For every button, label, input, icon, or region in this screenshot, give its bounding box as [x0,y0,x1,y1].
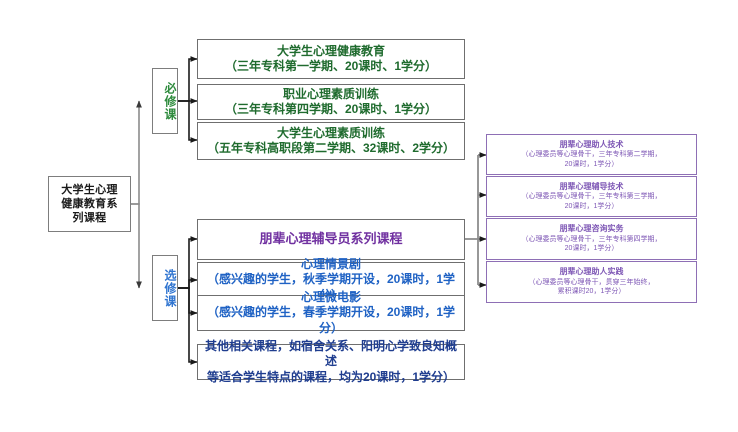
peer-series-course-4[interactable]: 朋辈心理助人实践 （心理委员等心理骨干，贯穿三年始终， 累积课时20，1学分） [486,261,697,303]
elective-course-2-name: 心理情景剧 [201,257,461,272]
root-line-3: 列课程 [52,211,127,225]
root-node[interactable]: 大学生心理 健康教育系 列课程 [48,176,131,232]
peer-series-course-3-detail-2: 20课时，1学分） [490,244,693,253]
root-line-2: 健康教育系 [52,197,127,211]
category-elective[interactable]: 选修课 [152,255,178,321]
category-required[interactable]: 必修课 [152,68,178,134]
required-course-1-detail: （三年专科第一学期、20课时、1学分） [201,59,461,74]
required-course-1[interactable]: 大学生心理健康教育 （三年专科第一学期、20课时、1学分） [197,39,465,79]
peer-series-course-4-name: 朋辈心理助人实践 [490,267,693,277]
elective-course-1-name: 朋辈心理辅导员系列课程 [198,231,464,248]
required-course-2-name: 职业心理素质训练 [201,87,461,102]
required-course-3[interactable]: 大学生心理素质训练 （五年专科高职段第二学期、32课时、2学分） [197,122,465,160]
elective-course-3-detail: （感兴趣的学生，春季学期开设，20课时，1学分） [201,305,461,336]
elective-course-1[interactable]: 朋辈心理辅导员系列课程 [197,219,465,260]
peer-series-course-3-detail-1: （心理委员等心理骨干，三年专科第四学期， [490,235,693,244]
peer-series-course-1[interactable]: 朋辈心理助人技术 （心理委员等心理骨干，三年专科第二学期， 20课时，1学分） [486,134,697,175]
peer-series-course-4-detail-2: 累积课时20，1学分） [490,287,693,296]
other-courses-line-1: 其他相关课程，如宿舍关系、阳明心学致良知概述 [201,339,461,370]
category-required-label: 必修课 [153,82,177,121]
peer-series-course-4-detail-1: （心理委员等心理骨干，贯穿三年始终， [490,278,693,287]
peer-series-course-2-detail-2: 20课时，1学分） [490,202,693,211]
required-course-2[interactable]: 职业心理素质训练 （三年专科第四学期、20课时、1学分） [197,84,465,120]
elective-course-3-name: 心理微电影 [201,290,461,305]
peer-series-course-3-name: 朋辈心理咨询实务 [490,224,693,234]
peer-series-course-3[interactable]: 朋辈心理咨询实务 （心理委员等心理骨干，三年专科第四学期， 20课时，1学分） [486,218,697,260]
peer-series-course-2[interactable]: 朋辈心理辅导技术 （心理委员等心理骨干，三年专科第三学期， 20课时，1学分） [486,176,697,217]
elective-course-3[interactable]: 心理微电影 （感兴趣的学生，春季学期开设，20课时，1学分） [197,295,465,331]
peer-series-course-1-detail-2: 20课时，1学分） [490,160,693,169]
peer-series-course-1-name: 朋辈心理助人技术 [490,140,693,150]
category-elective-label: 选修课 [153,269,177,308]
other-courses-box[interactable]: 其他相关课程，如宿舍关系、阳明心学致良知概述 等适合学生特点的课程，均为20课时… [197,344,465,380]
required-course-1-name: 大学生心理健康教育 [201,44,461,59]
peer-series-course-2-detail-1: （心理委员等心理骨干，三年专科第三学期， [490,192,693,201]
other-courses-line-2: 等适合学生特点的课程，均为20课时，1学分） [201,370,461,385]
root-line-1: 大学生心理 [52,183,127,197]
diagram-canvas: 大学生心理 健康教育系 列课程 必修课 选修课 大学生心理健康教育 （三年专科第… [0,0,738,432]
required-course-2-detail: （三年专科第四学期、20课时、1学分） [201,102,461,117]
peer-series-course-2-name: 朋辈心理辅导技术 [490,182,693,192]
required-course-3-name: 大学生心理素质训练 [201,126,461,141]
required-course-3-detail: （五年专科高职段第二学期、32课时、2学分） [201,141,461,156]
peer-series-course-1-detail-1: （心理委员等心理骨干，三年专科第二学期， [490,150,693,159]
